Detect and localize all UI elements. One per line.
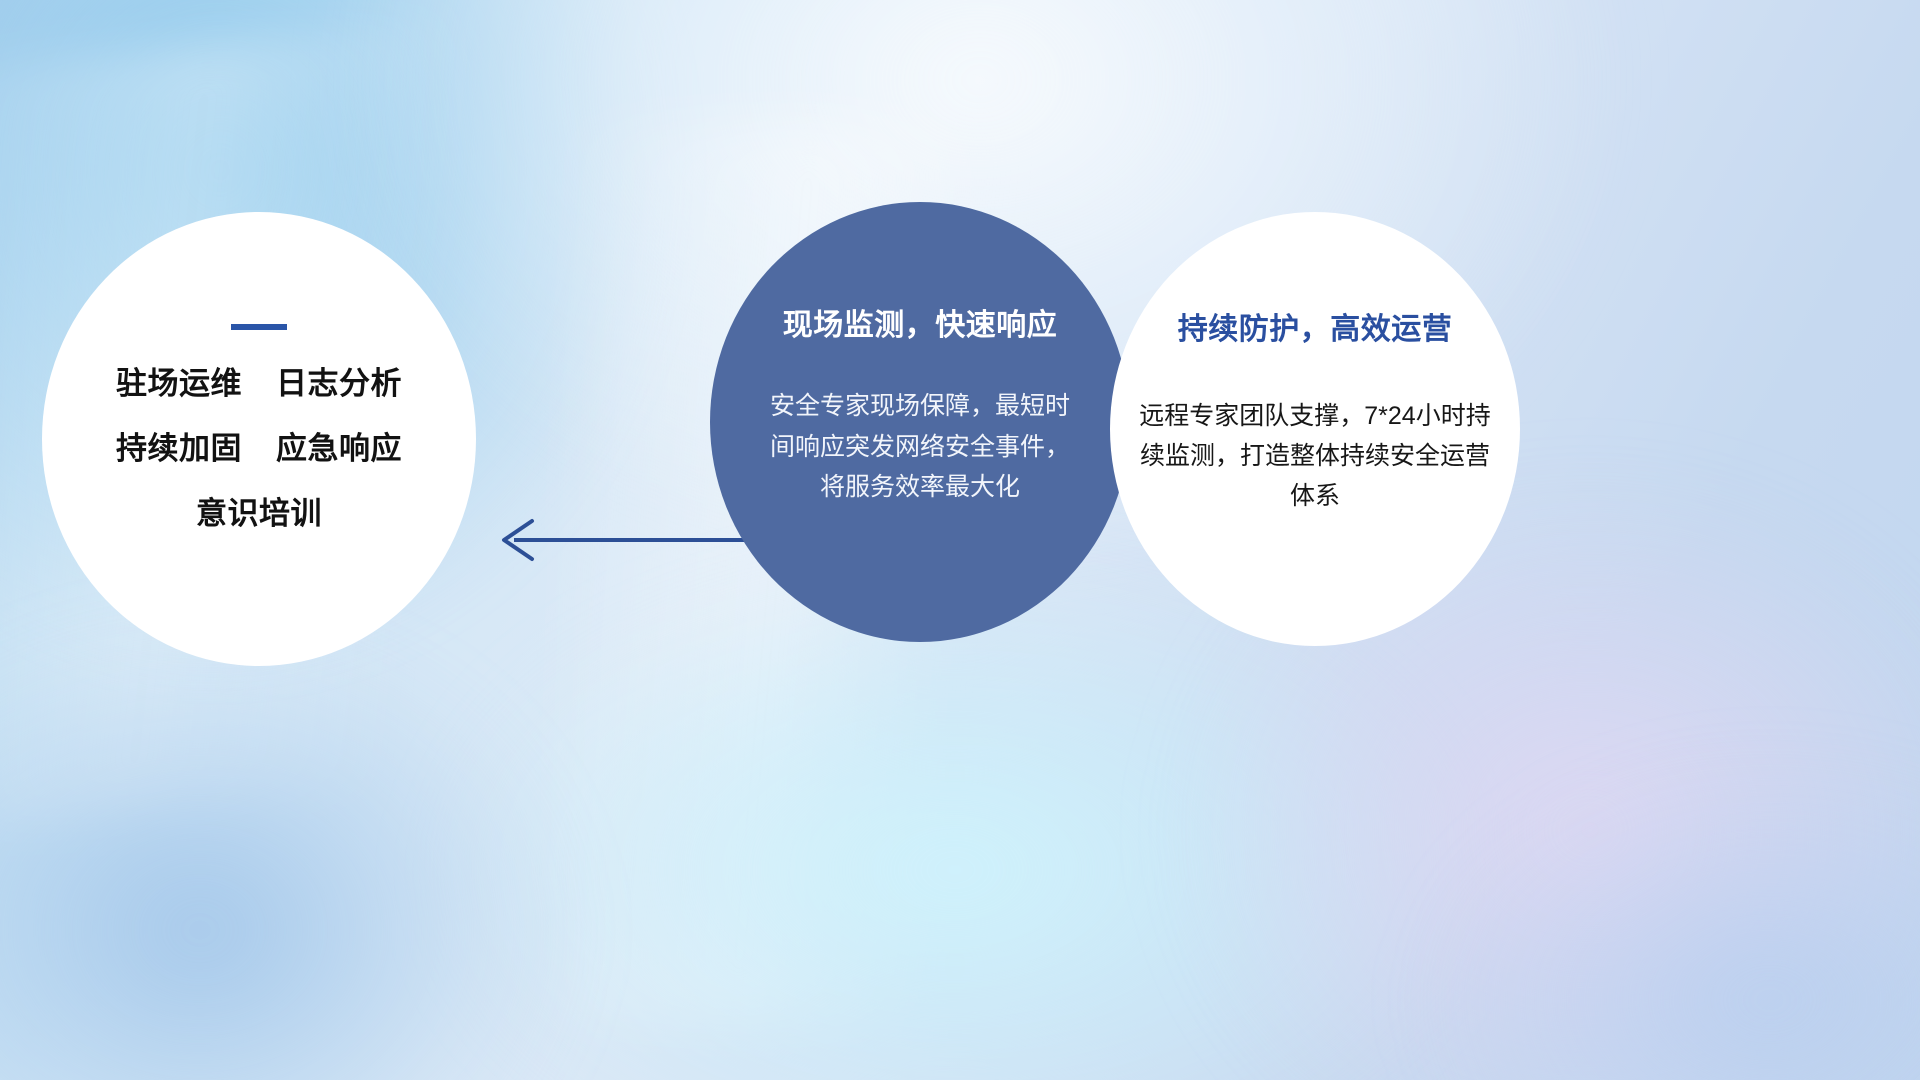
continuous-protection-title: 持续防护，高效运营 <box>1178 304 1453 348</box>
keyword-item: 日志分析 <box>276 368 402 399</box>
background-glow-bottom-left <box>0 620 580 1080</box>
background-glow-bottom-right <box>1420 760 1920 1080</box>
onsite-ops-capability-circle: 驻场运维 日志分析 持续加固 应急响应 意识培训 <box>42 212 476 666</box>
keyword-row: 驻场运维 日志分析 <box>116 368 402 399</box>
onsite-response-body: 安全专家现场保障，最短时间响应突发网络安全事件，将服务效率最大化 <box>765 386 1075 508</box>
onsite-response-circle: 现场监测，快速响应 安全专家现场保障，最短时间响应突发网络安全事件，将服务效率最… <box>710 202 1130 642</box>
keyword-row: 持续加固 应急响应 <box>116 433 402 464</box>
capability-keyword-block: 驻场运维 日志分析 持续加固 应急响应 意识培训 <box>116 368 402 529</box>
continuous-protection-body: 远程专家团队支撑，7*24小时持续监测，打造整体持续安全运营体系 <box>1139 396 1491 516</box>
continuous-protection-circle: 持续防护，高效运营 远程专家团队支撑，7*24小时持续监测，打造整体持续安全运营… <box>1110 212 1520 646</box>
keyword-item: 应急响应 <box>276 433 402 464</box>
accent-dash-divider <box>231 324 287 330</box>
keyword-item: 持续加固 <box>116 433 242 464</box>
onsite-response-title: 现场监测，快速响应 <box>783 300 1058 344</box>
keyword-item: 意识培训 <box>196 498 322 529</box>
slide-canvas: 驻场运维 日志分析 持续加固 应急响应 意识培训 现场监测，快速响应 安全专家现… <box>0 0 1920 1080</box>
keyword-row: 意识培训 <box>116 498 402 529</box>
keyword-item: 驻场运维 <box>116 368 242 399</box>
